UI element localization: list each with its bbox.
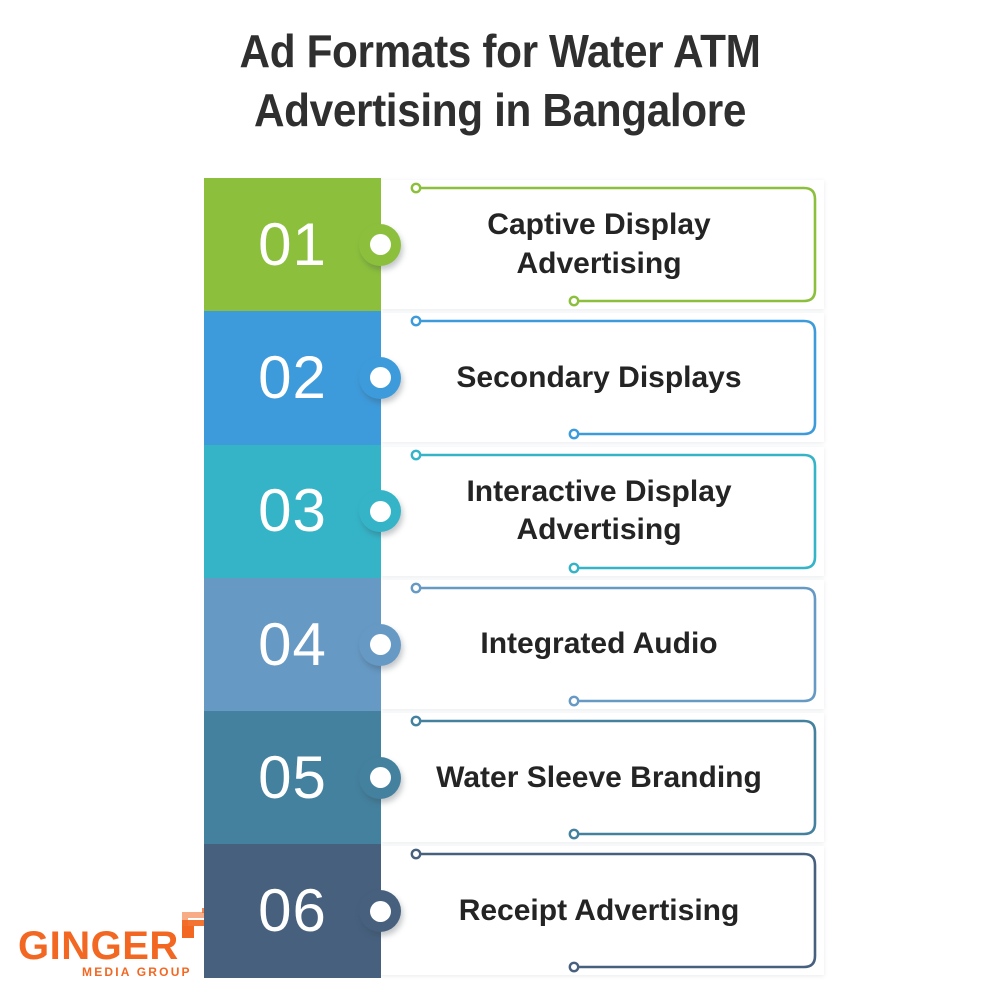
item-label-wrap: Interactive Display Advertising	[399, 445, 799, 578]
item-label-wrap: Secondary Displays	[399, 311, 799, 444]
item-label-wrap: Integrated Audio	[399, 578, 799, 711]
item-number-block: 02	[204, 311, 381, 444]
item-label-wrap: Captive Display Advertising	[399, 178, 799, 311]
list-item[interactable]: 03Interactive Display Advertising	[204, 445, 824, 578]
item-label: Secondary Displays	[456, 359, 741, 397]
item-marker-center	[370, 901, 391, 922]
item-marker-center	[370, 501, 391, 522]
list-item[interactable]: 02Secondary Displays	[204, 311, 824, 444]
item-number-block: 01	[204, 178, 381, 311]
item-number: 04	[258, 615, 327, 675]
brand-logo: GINGER MEDIA GROUP	[18, 904, 218, 982]
item-label-wrap: Receipt Advertising	[399, 844, 799, 977]
item-number: 05	[258, 748, 327, 808]
item-label-wrap: Water Sleeve Branding	[399, 711, 799, 844]
logo-tagline: MEDIA GROUP	[82, 966, 192, 978]
item-label: Integrated Audio	[480, 625, 717, 663]
item-marker-center	[370, 634, 391, 655]
item-label: Captive Display Advertising	[409, 206, 789, 283]
page-title-line-1: Ad Formats for Water ATM	[40, 22, 960, 81]
logo-wordmark: GINGER	[18, 926, 179, 966]
item-number-block: 06	[204, 844, 381, 977]
item-marker-center	[370, 767, 391, 788]
item-marker-icon	[359, 224, 401, 266]
item-marker-icon	[359, 490, 401, 532]
item-label: Receipt Advertising	[459, 892, 740, 930]
item-marker-icon	[359, 757, 401, 799]
item-number: 01	[258, 215, 327, 275]
list-item[interactable]: 06Receipt Advertising	[204, 844, 824, 977]
item-number: 03	[258, 481, 327, 541]
item-marker-icon	[359, 624, 401, 666]
list-item[interactable]: 01Captive Display Advertising	[204, 178, 824, 311]
item-number-block: 03	[204, 445, 381, 578]
list-item[interactable]: 05Water Sleeve Branding	[204, 711, 824, 844]
item-label: Interactive Display Advertising	[409, 473, 789, 550]
ad-format-list: 01Captive Display Advertising02Secondary…	[204, 178, 824, 978]
item-marker-icon	[359, 357, 401, 399]
list-item[interactable]: 04Integrated Audio	[204, 578, 824, 711]
item-label: Water Sleeve Branding	[436, 759, 762, 797]
item-marker-icon	[359, 890, 401, 932]
page-title: Ad Formats for Water ATM Advertising in …	[40, 22, 960, 140]
item-number: 06	[258, 881, 327, 941]
page-title-line-2: Advertising in Bangalore	[40, 81, 960, 140]
item-marker-center	[370, 367, 391, 388]
item-number-block: 04	[204, 578, 381, 711]
item-marker-center	[370, 234, 391, 255]
item-number-block: 05	[204, 711, 381, 844]
item-number: 02	[258, 348, 327, 408]
